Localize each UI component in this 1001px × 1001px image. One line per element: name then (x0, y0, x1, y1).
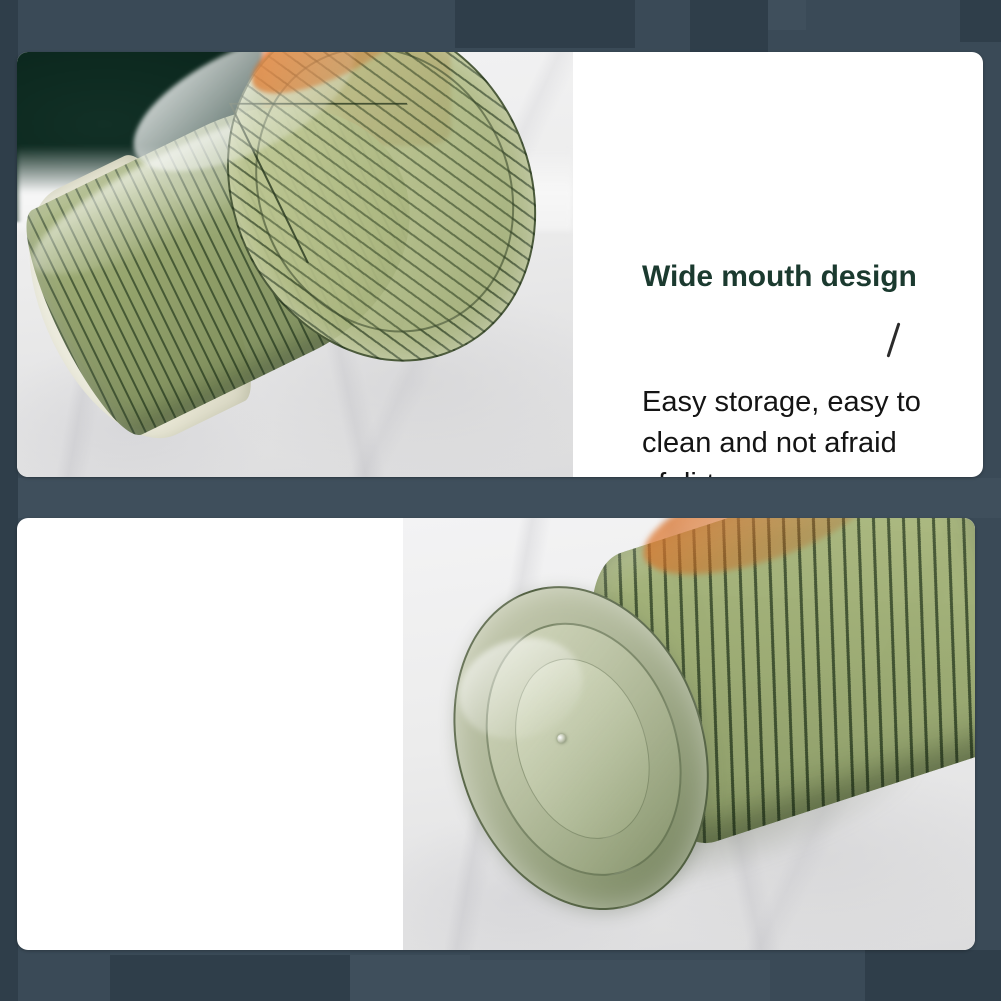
bg-decor-block (470, 960, 770, 1001)
feature-card-raised-bottom: At the bottom of the higher The bottom i… (17, 518, 975, 950)
bg-decor-block (768, 0, 806, 30)
bg-decor-edge (0, 0, 18, 1001)
bg-decor-block (690, 0, 768, 52)
product-photo-wide-mouth (17, 52, 573, 477)
feature-card-wide-mouth: Wide mouth design Easy storage, easy to … (17, 52, 983, 477)
bg-decor-block (960, 0, 1001, 42)
bg-decor-block (455, 0, 635, 48)
feature-headline: Wide mouth design (642, 257, 972, 296)
feature-description: Easy storage, easy to clean and not afra… (642, 382, 972, 477)
bg-decor-block (350, 955, 470, 1001)
bg-decor-block (865, 950, 1001, 1001)
product-photo-raised-bottom (403, 518, 975, 950)
bg-decor-block (110, 955, 350, 1001)
feature-text-wide-mouth: Wide mouth design Easy storage, easy to … (642, 257, 972, 477)
bg-decor-band (0, 478, 1001, 518)
divider-slash-icon (887, 322, 901, 357)
